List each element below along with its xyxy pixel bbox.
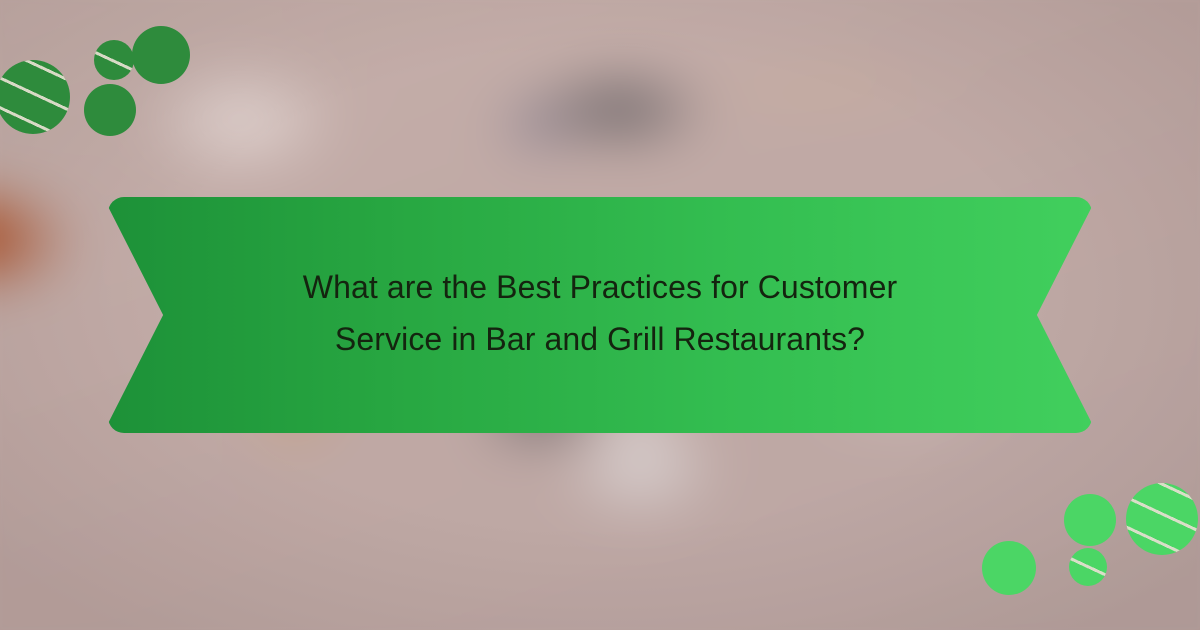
circle-small-striped [94, 40, 134, 80]
circle-large-striped [1126, 483, 1198, 555]
page-title-line-1: What are the Best Practices for Customer [303, 269, 897, 305]
circle-bottom-solid [982, 541, 1036, 595]
circle-large-solid [132, 26, 190, 84]
page-title-line-2: Service in Bar and Grill Restaurants? [335, 321, 865, 357]
circle-medium-solid [84, 84, 136, 136]
page-title: What are the Best Practices for Customer… [250, 262, 950, 368]
banner-canvas: What are the Best Practices for Customer… [0, 0, 1200, 630]
title-ribbon: What are the Best Practices for Customer… [108, 197, 1092, 433]
circle-small-striped [1069, 548, 1107, 586]
circle-medium-solid [1064, 494, 1116, 546]
